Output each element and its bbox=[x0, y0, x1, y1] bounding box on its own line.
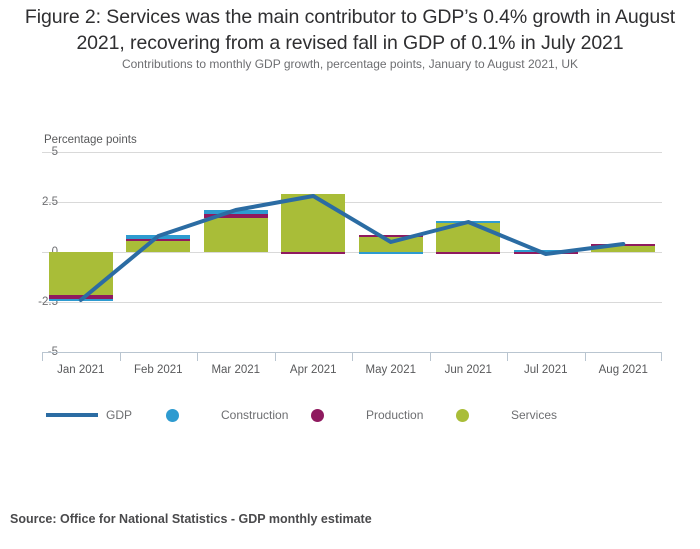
x-axis-tick-label: May 2021 bbox=[365, 364, 416, 376]
chart-legend: GDPConstructionProductionServices bbox=[46, 404, 666, 428]
legend-item-services[interactable]: Services bbox=[456, 404, 557, 426]
legend-dot-swatch-icon bbox=[311, 409, 324, 422]
x-axis-tick-mark bbox=[275, 352, 276, 361]
legend-dot-swatch-icon bbox=[166, 409, 179, 422]
x-axis-tick-mark bbox=[507, 352, 508, 361]
x-axis-tick-label: Apr 2021 bbox=[290, 364, 337, 376]
gdp-line-path bbox=[81, 196, 624, 300]
x-axis-tick-label: Aug 2021 bbox=[599, 364, 648, 376]
legend-label: GDP bbox=[106, 408, 132, 422]
x-axis-tick-label: Feb 2021 bbox=[134, 364, 183, 376]
x-axis-tick-label: Jul 2021 bbox=[524, 364, 567, 376]
x-axis-ticks: Jan 2021Feb 2021Mar 2021Apr 2021May 2021… bbox=[42, 352, 662, 382]
x-axis-tick-mark bbox=[585, 352, 586, 361]
x-axis-tick-mark bbox=[42, 352, 43, 361]
x-axis-tick-label: Jan 2021 bbox=[57, 364, 104, 376]
x-axis-tick-mark bbox=[430, 352, 431, 361]
x-axis-tick-label: Jun 2021 bbox=[445, 364, 492, 376]
figure-container: Figure 2: Services was the main contribu… bbox=[0, 0, 700, 549]
legend-item-production[interactable]: Production bbox=[311, 404, 423, 426]
x-axis-tick-label: Mar 2021 bbox=[211, 364, 260, 376]
legend-label: Production bbox=[366, 408, 423, 422]
x-axis-tick-mark bbox=[352, 352, 353, 361]
legend-item-construction[interactable]: Construction bbox=[166, 404, 288, 426]
plot-area: Percentage points 52.50-2.5-5 Jan 2021Fe… bbox=[0, 0, 700, 420]
x-axis-tick-mark bbox=[661, 352, 662, 361]
legend-item-gdp[interactable]: GDP bbox=[46, 404, 132, 426]
legend-label: Construction bbox=[221, 408, 288, 422]
legend-line-swatch-icon bbox=[46, 413, 98, 417]
x-axis-tick-mark bbox=[197, 352, 198, 361]
legend-label: Services bbox=[511, 408, 557, 422]
x-axis-tick-mark bbox=[120, 352, 121, 361]
source-note: Source: Office for National Statistics -… bbox=[10, 512, 372, 526]
legend-dot-swatch-icon bbox=[456, 409, 469, 422]
